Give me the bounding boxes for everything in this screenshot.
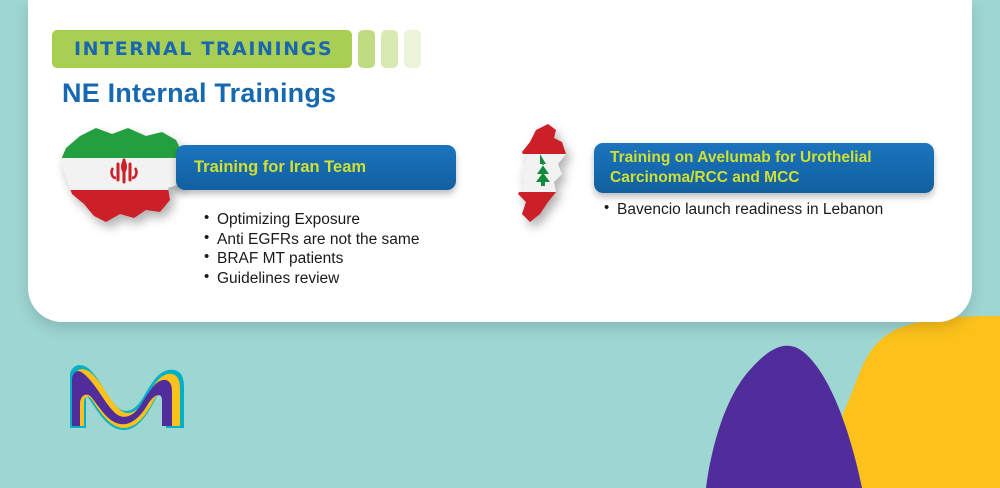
eyebrow-label: INTERNAL TRAININGS (74, 38, 333, 60)
list-item: Anti EGFRs are not the same (204, 230, 419, 250)
list-item: Bavencio launch readiness in Lebanon (604, 200, 883, 220)
eyebrow-block-4 (404, 30, 421, 68)
merck-m-logo (62, 356, 188, 432)
eyebrow-bar-group: INTERNAL TRAININGS (52, 30, 421, 68)
bullet-list-iran: Optimizing Exposure Anti EGFRs are not t… (204, 210, 419, 288)
lebanon-flag-red-bottom (496, 192, 606, 230)
content-card: INTERNAL TRAININGS NE Internal Trainings (28, 0, 972, 322)
banner-lebanon: Training on Avelumab for Urothelial Carc… (594, 143, 934, 193)
eyebrow-bar: INTERNAL TRAININGS (52, 30, 352, 68)
lebanon-flag-white-band (496, 154, 606, 192)
iran-flag-red-band (50, 190, 200, 236)
banner-iran: Training for Iran Team (176, 145, 456, 190)
eyebrow-block-3 (381, 30, 398, 68)
eyebrow-block-2 (358, 30, 375, 68)
lebanon-flag-red-top (496, 118, 606, 154)
bullet-list-lebanon: Bavencio launch readiness in Lebanon (604, 200, 883, 220)
banner-lebanon-text: Training on Avelumab for Urothelial Carc… (610, 148, 918, 188)
slide-canvas: INTERNAL TRAININGS NE Internal Trainings (0, 0, 1000, 488)
list-item: BRAF MT patients (204, 249, 419, 269)
banner-iran-text: Training for Iran Team (194, 157, 366, 178)
page-title: NE Internal Trainings (62, 78, 336, 109)
list-item: Optimizing Exposure (204, 210, 419, 230)
list-item: Guidelines review (204, 269, 419, 289)
lebanon-flag-map (496, 118, 606, 230)
